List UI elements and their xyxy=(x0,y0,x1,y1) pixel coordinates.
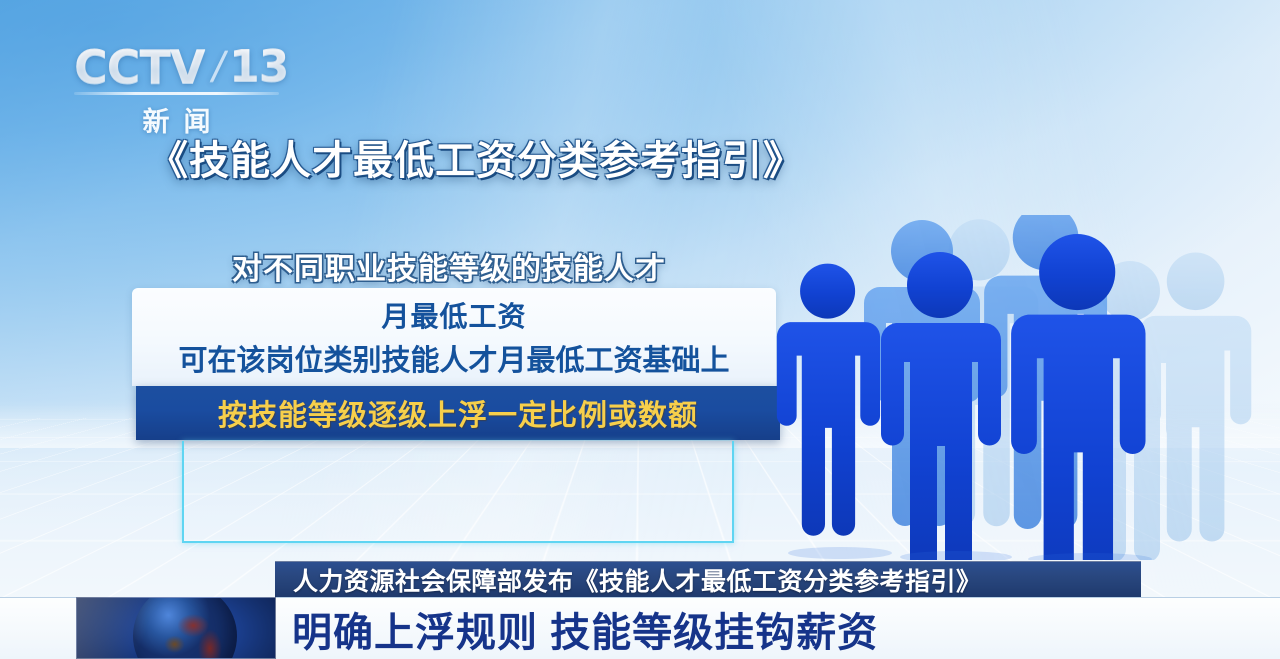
news-globe-thumbnail xyxy=(76,597,276,659)
group-of-people-icon xyxy=(770,215,1280,560)
cctv-channel-number: 13 xyxy=(229,45,288,89)
channel-logo-row: CCTV / 13 xyxy=(74,44,294,90)
highlight-bar: 按技能等级逐级上浮一定比例或数额 xyxy=(136,386,780,440)
lower-third-kicker-text: 人力资源社会保障部发布《技能人才最低工资分类参考指引》 xyxy=(293,562,982,598)
cctv-wordmark: CCTV xyxy=(74,44,207,90)
news-graphic-stage: CCTV / 13 新闻 《技能人才最低工资分类参考指引》 对不同职业技能等级的… xyxy=(0,0,1280,659)
cyan-bracket-outline xyxy=(182,441,734,543)
info-panel-line-1: 月最低工资 xyxy=(381,295,526,335)
thumbnail-sheen xyxy=(77,598,275,658)
info-panel: 月最低工资 可在该岗位类别技能人才月最低工资基础上 xyxy=(132,288,776,386)
info-panel-line-2: 可在该岗位类别技能人才月最低工资基础上 xyxy=(178,337,729,379)
channel-logo: CCTV / 13 新闻 xyxy=(74,44,294,139)
highlight-bar-text: 按技能等级逐级上浮一定比例或数额 xyxy=(218,392,698,434)
page-title: 《技能人才最低工资分类参考指引》 xyxy=(148,128,768,186)
lower-third-kicker: 人力资源社会保障部发布《技能人才最低工资分类参考指引》 xyxy=(275,561,1141,597)
lower-third-headline-text: 明确上浮规则 技能等级挂钩薪资 xyxy=(292,600,878,658)
subheading-text: 对不同职业技能等级的技能人才 xyxy=(232,244,666,288)
cctv-logo-slash: / xyxy=(208,46,228,88)
